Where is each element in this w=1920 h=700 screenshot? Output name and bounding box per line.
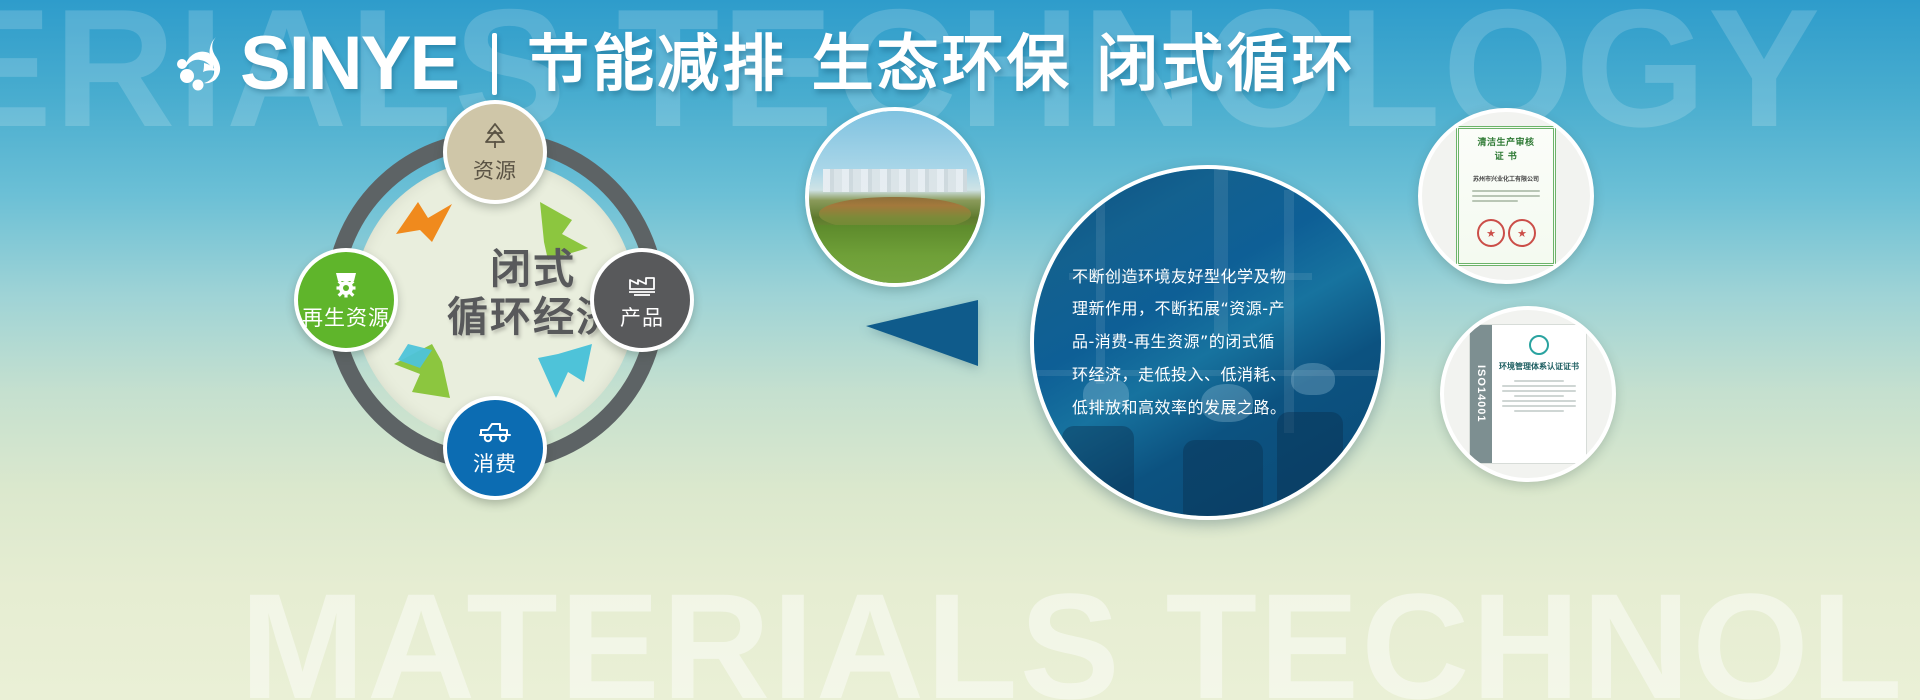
diagram-node-resource[interactable]: 资源: [443, 100, 547, 204]
diagram-node-consume[interactable]: 消费: [443, 396, 547, 500]
certificate-iso14001[interactable]: ISO14001 环境管理体系认证证书: [1440, 306, 1616, 482]
car-icon: [477, 419, 513, 445]
promotional-banner: ERIALS TECHNOLOGY MATERIALS TECHNOL SINY…: [0, 0, 1920, 700]
bubble-line: 低排放和高效率的发展之路。: [1072, 392, 1343, 425]
bubble-line: 环经济，走低投入、低消耗、: [1072, 359, 1343, 392]
factory-garden-photo: [805, 107, 985, 287]
cert1-body-lines: [1466, 190, 1546, 202]
diagram-node-renewable[interactable]: 再生资源: [294, 248, 398, 352]
seal-stamp-icon: ★: [1477, 219, 1505, 247]
header-divider: [492, 33, 497, 95]
seal-stamp-icon: ★: [1508, 219, 1536, 247]
cert1-company: 苏州市兴业化工有限公司: [1466, 174, 1546, 183]
bubble-line: 不断创造环境友好型化学及物: [1072, 261, 1343, 294]
brand-logo-text: SINYE: [240, 26, 458, 102]
speech-bubble-tail: [866, 300, 978, 366]
cert2-spine: ISO14001: [1470, 325, 1492, 463]
cert2-main: 环境管理体系认证证书: [1492, 325, 1586, 463]
factory-icon: [626, 269, 658, 299]
diagram-node-product[interactable]: 产品: [590, 248, 694, 352]
cert2-paper: ISO14001 环境管理体系认证证书: [1469, 324, 1587, 464]
tree-icon: [479, 120, 511, 152]
leaf-splash-logo-icon: [176, 33, 238, 95]
cert1-title-line2: 证 书: [1466, 151, 1546, 165]
cert1-paper: 清洁生产审核 证 书 苏州市兴业化工有限公司 ★ ★: [1456, 126, 1556, 266]
photo-buildings-layer: [823, 169, 967, 191]
cert1-title-line1: 清洁生产审核: [1466, 137, 1546, 151]
watermark-bottom-text: MATERIALS TECHNOL: [240, 560, 1904, 700]
closed-loop-economy-diagram: 闭式 循环经济 资源 产品: [300, 106, 690, 496]
diagram-node-renewable-label: 再生资源: [302, 302, 390, 332]
banner-header: SINYE 节能减排 生态环保 闭式循环: [0, 16, 1920, 112]
diagram-node-consume-label: 消费: [473, 448, 517, 478]
certification-body-logo-icon: [1529, 335, 1549, 355]
bubble-line: 理新作用，不断拓展“资源-产: [1072, 293, 1343, 326]
cert2-body-lines: [1498, 380, 1580, 412]
certificate-clean-production[interactable]: 清洁生产审核 证 书 苏州市兴业化工有限公司 ★ ★: [1418, 108, 1594, 284]
speech-bubble: 不断创造环境友好型化学及物 理新作用，不断拓展“资源-产 品-消费-再生资源”的…: [1030, 165, 1385, 520]
photo-lawn-layer: [805, 225, 985, 287]
diagram-node-product-label: 产品: [620, 302, 664, 332]
cert2-spine-text: ISO14001: [1475, 365, 1487, 423]
diagram-node-resource-label: 资源: [473, 155, 517, 185]
headline-slogan: 节能减排 生态环保 闭式循环: [527, 33, 1356, 95]
bubble-text-block: 不断创造环境友好型化学及物 理新作用，不断拓展“资源-产 品-消费-再生资源”的…: [1034, 169, 1381, 516]
bubble-line: 品-消费-再生资源”的闭式循: [1072, 326, 1343, 359]
cert2-title: 环境管理体系认证证书: [1498, 361, 1580, 372]
cert1-seals: ★ ★: [1477, 219, 1536, 247]
recycle-gear-icon: [330, 269, 362, 299]
